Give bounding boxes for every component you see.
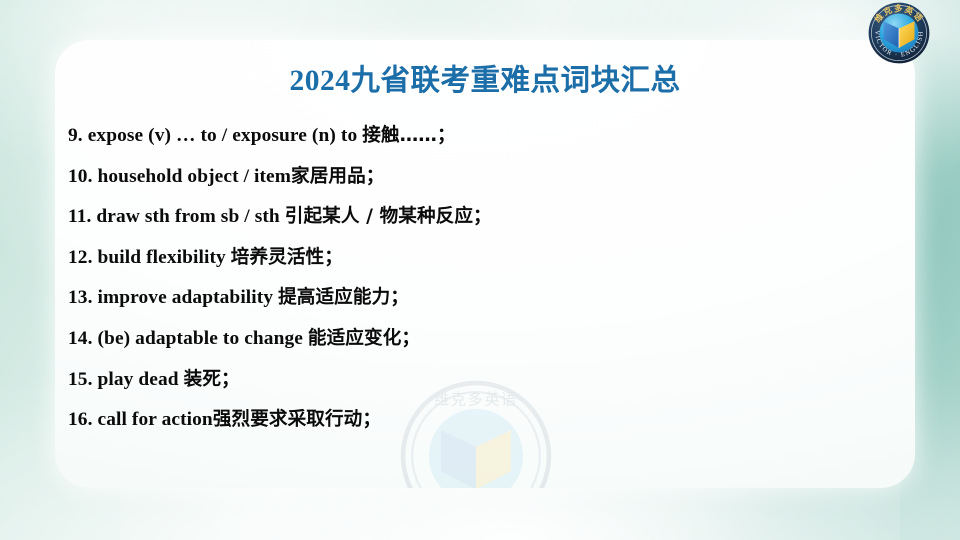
list-item-english: play dead (98, 369, 184, 390)
list-item: 10. household object / item家居用品； (68, 157, 899, 198)
list-item-chinese: 培养灵活性； (231, 247, 343, 268)
list-item-chinese: 装死； (184, 369, 240, 390)
list-item-chinese: 能适应变化； (308, 328, 420, 349)
content-card: VICTOR ENGLISH 维克多英语 2024九省联考重难点词块汇总 9. … (55, 40, 915, 488)
list-item-english: draw sth from sb / sth (96, 206, 284, 227)
list-item-chinese: 提高适应能力； (278, 287, 409, 308)
list-item: 12. build flexibility 培养灵活性； (68, 238, 899, 279)
list-item: 15. play dead 装死； (68, 360, 899, 401)
list-item-number: 15. (68, 369, 93, 390)
list-item: 13. improve adaptability 提高适应能力； (68, 278, 899, 319)
list-item-english: expose (v) … to / exposure (n) to (88, 125, 362, 146)
list-item-number: 11. (68, 206, 91, 227)
slide-canvas: VICTOR ENGLISH 维克多英语 2024九省联考重难点词块汇总 9. … (0, 0, 960, 540)
victor-english-logo-icon: 维克多英语 VICTOR · ENGLISH (868, 2, 930, 64)
list-item-number: 16. (68, 409, 93, 430)
list-item-english: build flexibility (98, 247, 231, 268)
list-item-number: 12. (68, 247, 93, 268)
list-item: 14. (be) adaptable to change 能适应变化； (68, 319, 899, 360)
list-item: 16. call for action强烈要求采取行动； (68, 400, 899, 441)
list-item-number: 9. (68, 125, 83, 146)
list-item-english: call for action (98, 409, 213, 430)
list-item: 11. draw sth from sb / sth 引起某人 / 物某种反应； (68, 197, 899, 238)
list-item-number: 14. (68, 328, 93, 349)
phrase-list: 9. expose (v) … to / exposure (n) to 接触…… (68, 116, 899, 441)
list-item-chinese: 引起某人 / 物某种反应； (285, 206, 492, 227)
page-title: 2024九省联考重难点词块汇总 (55, 57, 915, 99)
list-item-number: 13. (68, 287, 93, 308)
list-item: 9. expose (v) … to / exposure (n) to 接触…… (68, 116, 899, 157)
list-item-english: (be) adaptable to change (98, 328, 308, 349)
list-item-chinese: 强烈要求采取行动； (213, 409, 381, 430)
list-item-english: improve adaptability (98, 287, 279, 308)
list-item-english: household object / item (98, 166, 292, 187)
list-item-chinese: 家居用品； (291, 166, 384, 187)
list-item-chinese: 接触……； (362, 125, 455, 146)
list-item-number: 10. (68, 166, 93, 187)
